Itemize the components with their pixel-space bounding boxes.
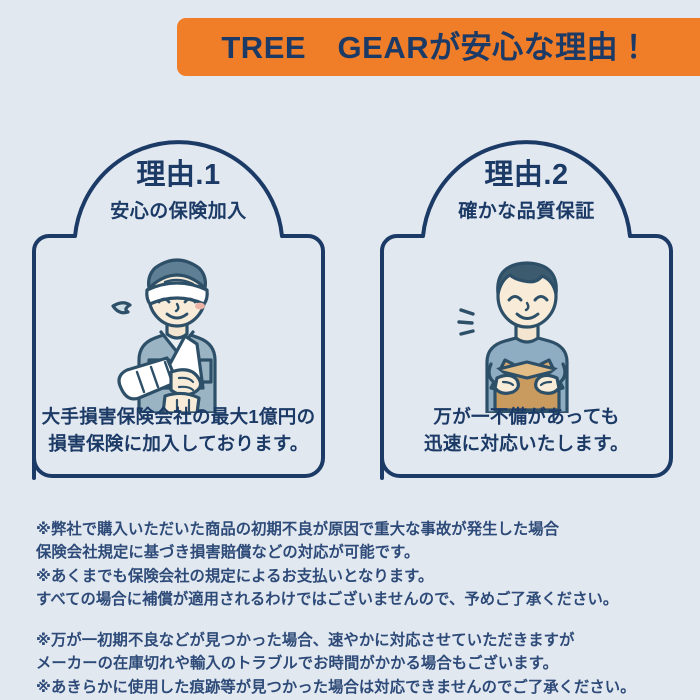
footnotes: ※弊社で購入いただいた商品の初期不良が原因で重大な事故が発生した場合 保険会社規…: [36, 518, 686, 699]
card-1-body-line-2: 損害保険に加入しております。: [32, 430, 325, 458]
footnote-block-1: ※弊社で購入いただいた商品の初期不良が原因で重大な事故が発生した場合 保険会社規…: [36, 518, 686, 611]
header-banner: TREE GEARが安心な理由！: [177, 18, 700, 76]
injured-worker-illustration: [99, 248, 259, 413]
footnote-block-2: ※万が一初期不良などが見つかった場合、速やかに対応させていただきますが メーカー…: [36, 629, 686, 699]
footnote-line: メーカーの在庫切れや輸入のトラブルでお時間がかかる場合もございます。: [36, 652, 686, 675]
reasons-card-group: 理由.1 安心の保険加入: [0, 112, 700, 487]
card-1-subtitle: 安心の保険加入: [110, 202, 247, 221]
footnote-line: すべての場合に補償が適用されるわけではございませんので、予めご了承ください。: [36, 588, 686, 611]
card-1-body-line-1: 大手損害保険会社の最大1億円の: [32, 403, 325, 431]
card-1-body: 大手損害保険会社の最大1億円の 損害保険に加入しております。: [32, 403, 325, 459]
card-2-body-line-2: 迅速に対応いたします。: [380, 430, 673, 458]
card-1-title: 理由.1: [136, 161, 220, 190]
card-2-body-line-1: 万が一不備があっても: [380, 403, 673, 431]
footnote-line: 保険会社規定に基づき損害賠償などの対応が可能です。: [36, 541, 686, 564]
reason-card-1: 理由.1 安心の保険加入: [32, 112, 325, 478]
footnote-line: ※あきらかに使用した痕跡等が見つかった場合は対応できませんのでご了承ください。: [36, 676, 686, 699]
card-2-body: 万が一不備があっても 迅速に対応いたします。: [380, 403, 673, 459]
man-opening-box-illustration: [447, 248, 607, 413]
card-2-title: 理由.2: [484, 161, 568, 190]
card-2-subtitle: 確かな品質保証: [458, 202, 595, 221]
footnote-line: ※あくまでも保険会社の規定によるお支払いとなります。: [36, 565, 686, 588]
header-banner-text: TREE GEARが安心な理由！: [221, 32, 649, 63]
footnote-line: ※弊社で購入いただいた商品の初期不良が原因で重大な事故が発生した場合: [36, 518, 686, 541]
footnote-line: ※万が一初期不良などが見つかった場合、速やかに対応させていただきますが: [36, 629, 686, 652]
reason-card-2: 理由.2 確かな品質保証: [380, 112, 673, 478]
